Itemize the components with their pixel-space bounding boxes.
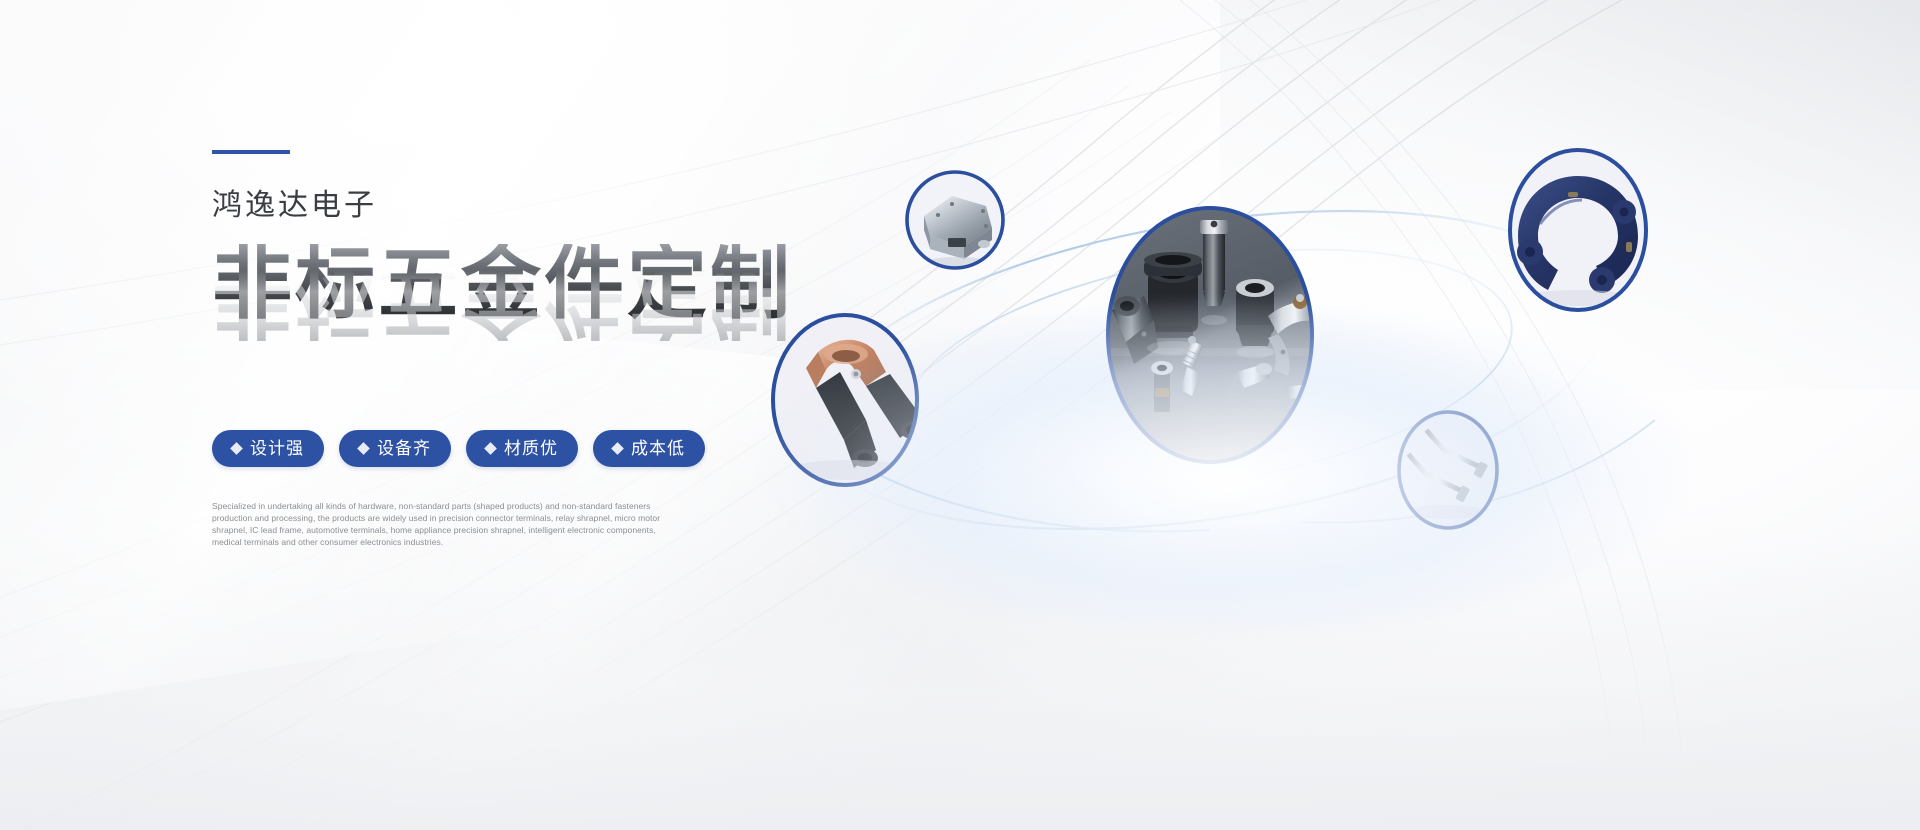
part-small-pin bbox=[1151, 361, 1173, 412]
diamond-icon bbox=[611, 442, 624, 455]
hero-banner: 鸿逸达电子 非标五金件定制 非标五金件定制 设计强 设备齐 材质优 成本低 bbox=[0, 0, 1920, 830]
accent-rule bbox=[212, 150, 290, 154]
feature-pill-label: 成本低 bbox=[631, 440, 685, 457]
diamond-icon bbox=[484, 442, 497, 455]
product-showcase bbox=[740, 120, 1840, 680]
satellite-metal-enclosure[interactable] bbox=[905, 170, 1005, 270]
feature-pill-label: 设计强 bbox=[250, 440, 304, 457]
part-tall-pin bbox=[1200, 220, 1228, 306]
feature-pill-label: 设备齐 bbox=[377, 440, 431, 457]
diamond-icon bbox=[230, 442, 243, 455]
feature-pill-material[interactable]: 材质优 bbox=[466, 430, 578, 467]
feature-pill-label: 材质优 bbox=[504, 440, 558, 457]
feature-pill-design[interactable]: 设计强 bbox=[212, 430, 324, 467]
satellite-snap-ring[interactable] bbox=[1508, 148, 1650, 314]
feature-pill-cost[interactable]: 成本低 bbox=[593, 430, 705, 467]
diamond-icon bbox=[357, 442, 370, 455]
company-description: Specialized in undertaking all kinds of … bbox=[212, 500, 674, 548]
part-right-bushing bbox=[1236, 279, 1274, 346]
feature-pill-equipment[interactable]: 设备齐 bbox=[339, 430, 451, 467]
